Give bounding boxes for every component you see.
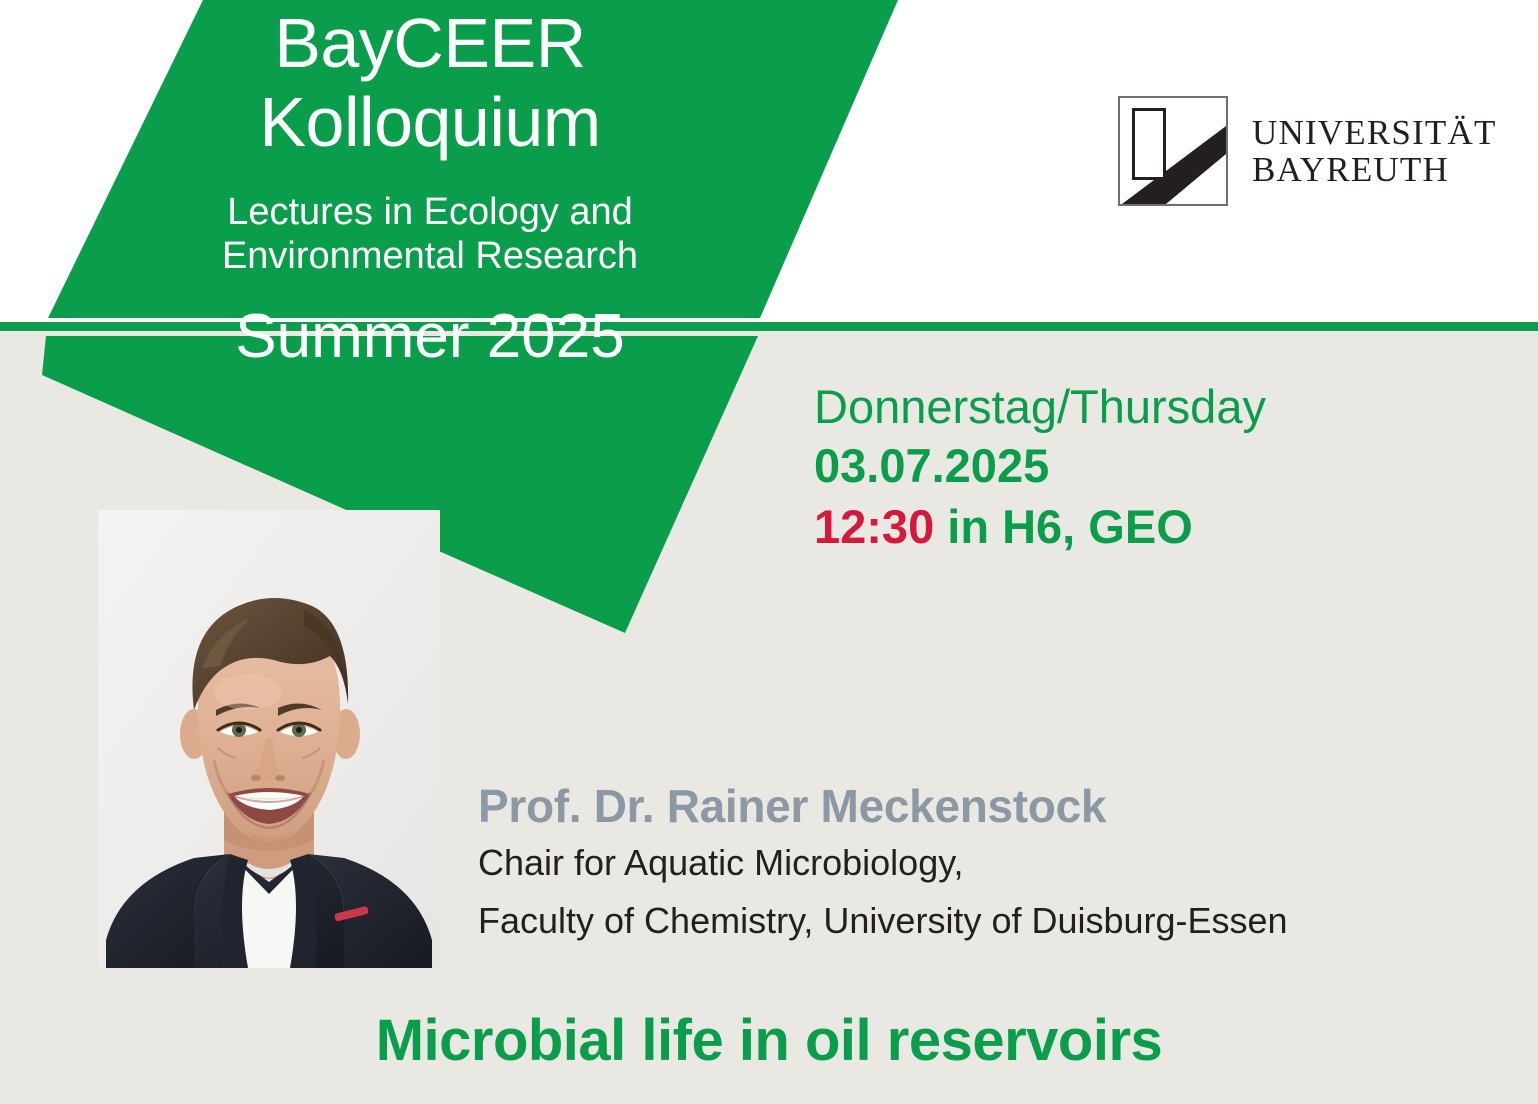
colloquium-poster: BayCEER Kolloquium Lectures in Ecology a… — [0, 0, 1538, 1104]
event-location: in H6, GEO — [934, 500, 1193, 553]
header-subtitle-line2: Environmental Research — [60, 234, 800, 278]
logo-vertical-bar-icon — [1132, 108, 1166, 180]
speaker-name: Prof. Dr. Rainer Meckenstock — [478, 778, 1478, 834]
speaker-affiliation-line2: Faculty of Chemistry, University of Duis… — [478, 892, 1478, 950]
header-season: Summer 2025 — [60, 302, 800, 372]
university-logo-icon — [1118, 96, 1228, 206]
event-time-location: 12:30 in H6, GEO — [814, 496, 1266, 558]
speaker-portrait-photo — [98, 510, 440, 968]
talk-title: Microbial life in oil reservoirs — [0, 1006, 1538, 1076]
header-subtitle: Lectures in Ecology and Environmental Re… — [60, 190, 800, 278]
speaker-affiliation-line1: Chair for Aquatic Microbiology, — [478, 834, 1478, 892]
header-title-line2: Kolloquium — [60, 82, 800, 162]
event-date: 03.07.2025 — [814, 436, 1266, 496]
header-title-line1: BayCEER — [60, 4, 800, 82]
event-datetime-block: Donnerstag/Thursday 03.07.2025 12:30 in … — [814, 378, 1266, 558]
poster-header-text: BayCEER Kolloquium Lectures in Ecology a… — [60, 0, 800, 372]
university-logo-line2: BAYREUTH — [1252, 151, 1497, 188]
university-logo: UNIVERSITÄT BAYREUTH — [1118, 96, 1497, 206]
event-weekday: Donnerstag/Thursday — [814, 378, 1266, 436]
university-logo-line1: UNIVERSITÄT — [1252, 114, 1497, 151]
portrait-illustration — [98, 510, 440, 968]
event-time: 12:30 — [814, 500, 934, 553]
speaker-info-block: Prof. Dr. Rainer Meckenstock Chair for A… — [478, 778, 1478, 950]
university-logo-wordmark: UNIVERSITÄT BAYREUTH — [1252, 114, 1497, 188]
header-subtitle-line1: Lectures in Ecology and — [60, 190, 800, 234]
